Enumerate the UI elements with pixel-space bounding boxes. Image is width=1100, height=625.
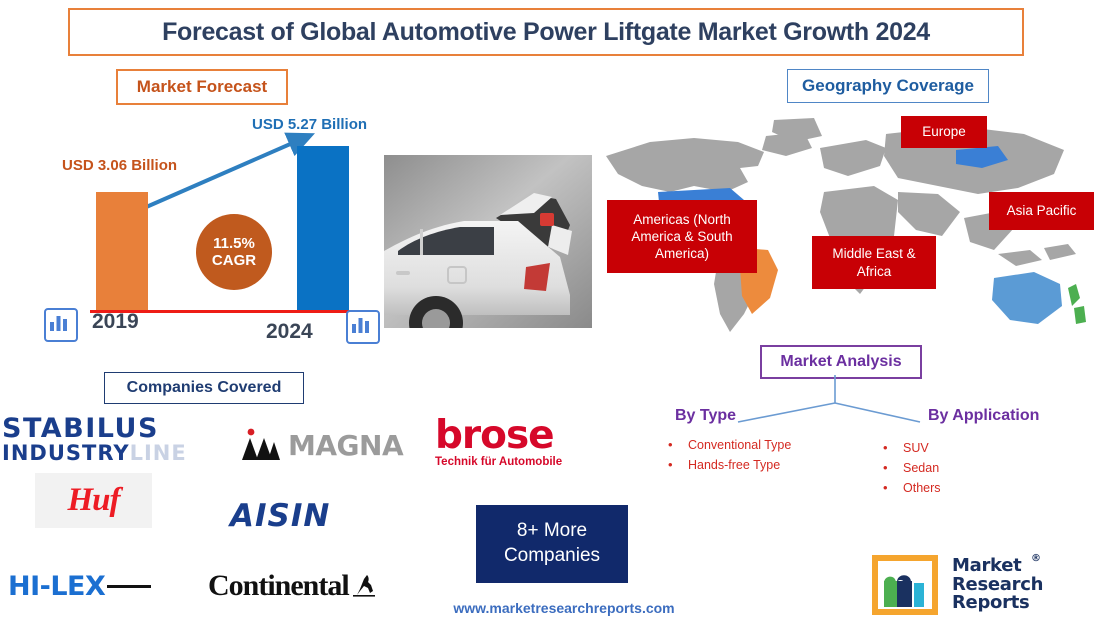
logo-stabilus: STABILUS INDUSTRYLINE bbox=[2, 415, 220, 465]
map-label-americas: Americas (North America & South America) bbox=[607, 200, 757, 273]
page-title-banner: Forecast of Global Automotive Power Lift… bbox=[68, 8, 1024, 56]
list-item: Conventional Type bbox=[660, 438, 791, 452]
section-header-market-forecast: Market Forecast bbox=[116, 69, 288, 105]
world-map: Europe Asia Pacific Americas (North Amer… bbox=[598, 108, 1094, 343]
huf-wordmark: Huf bbox=[67, 482, 119, 519]
bar-chart-icon bbox=[346, 310, 380, 344]
logo-aisin: AISIN bbox=[230, 498, 390, 534]
bar-2024 bbox=[297, 146, 349, 312]
section-header-geography-coverage: Geography Coverage bbox=[787, 69, 989, 103]
mrr-wordmark: Market Research Reports ® bbox=[952, 557, 1043, 612]
map-label-text: Americas (North America & South America) bbox=[615, 211, 749, 263]
bar-2019 bbox=[96, 192, 148, 312]
product-photo-power-liftgate bbox=[384, 155, 592, 328]
branch-heading-by-type: By Type bbox=[675, 407, 736, 425]
geography-coverage-label: Geography Coverage bbox=[802, 76, 974, 96]
chart-category-2024: 2024 bbox=[266, 320, 313, 344]
list-item: Others bbox=[875, 481, 941, 495]
more-companies-badge: 8+ More Companies bbox=[476, 505, 628, 583]
bar-chart-icon bbox=[44, 308, 78, 342]
hilex-rule bbox=[107, 585, 151, 588]
market-forecast-label: Market Forecast bbox=[137, 77, 267, 97]
registered-trademark-icon: ® bbox=[1031, 554, 1041, 564]
market-research-reports-logo: Market Research Reports ® bbox=[872, 552, 1087, 618]
website-url[interactable]: www.marketresearchreports.com bbox=[424, 600, 704, 616]
cagr-percent: 11.5% bbox=[213, 235, 255, 252]
growth-arrow-icon bbox=[140, 130, 315, 215]
stabilus-line-text: LINE bbox=[130, 441, 187, 465]
horse-icon bbox=[351, 573, 377, 599]
more-companies-line1: 8+ More bbox=[517, 519, 587, 544]
map-region-australia bbox=[992, 272, 1062, 324]
map-label-text: Europe bbox=[922, 123, 966, 140]
map-label-asia-pacific: Asia Pacific bbox=[989, 192, 1094, 230]
map-label-text: Asia Pacific bbox=[1007, 202, 1077, 219]
logo-continental: Continental bbox=[208, 568, 423, 604]
by-type-list: Conventional Type Hands-free Type bbox=[660, 438, 791, 478]
continental-wordmark: Continental bbox=[208, 569, 349, 603]
market-analysis-label: Market Analysis bbox=[780, 353, 901, 371]
magna-wordmark: MAGNA bbox=[288, 429, 403, 462]
aisin-wordmark: AISIN bbox=[230, 498, 330, 534]
market-analysis-tree: By Type By Application Conventional Type… bbox=[620, 375, 1080, 510]
section-header-market-analysis: Market Analysis bbox=[760, 345, 922, 379]
more-companies-line2: Companies bbox=[504, 544, 600, 569]
page-title: Forecast of Global Automotive Power Lift… bbox=[162, 18, 930, 47]
list-item: SUV bbox=[875, 441, 941, 455]
companies-covered-label: Companies Covered bbox=[127, 379, 282, 397]
map-label-europe: Europe bbox=[901, 116, 987, 148]
stabilus-industry-text: INDUSTRY bbox=[2, 441, 130, 465]
hilex-wordmark: HI-LEX bbox=[8, 571, 105, 602]
by-application-list: SUV Sedan Others bbox=[875, 441, 941, 501]
map-region-new-zealand bbox=[1068, 284, 1080, 306]
list-item: Sedan bbox=[875, 461, 941, 475]
list-item: Hands-free Type bbox=[660, 458, 791, 472]
tree-connector-lines bbox=[620, 375, 1080, 435]
mrr-line-3: Reports bbox=[952, 594, 1043, 612]
logo-brose: brose Technik für Automobile bbox=[435, 418, 600, 476]
brose-wordmark: brose bbox=[435, 418, 600, 454]
market-forecast-chart: USD 3.06 Billion USD 5.27 Billion 11.5% … bbox=[30, 110, 390, 345]
stabilus-wordmark: STABILUS bbox=[2, 415, 220, 442]
chart-category-2019: 2019 bbox=[92, 310, 139, 334]
magna-mark-icon bbox=[240, 428, 280, 462]
cagr-badge: 11.5% CAGR bbox=[196, 214, 272, 290]
mrr-m-mark-icon bbox=[872, 555, 938, 615]
logo-magna: MAGNA bbox=[240, 425, 420, 465]
map-label-middle-east-africa: Middle East & Africa bbox=[812, 236, 936, 289]
map-label-text: Middle East & Africa bbox=[820, 245, 928, 280]
logo-huf: Huf bbox=[35, 473, 152, 528]
brose-tagline: Technik für Automobile bbox=[435, 456, 600, 468]
section-header-companies-covered: Companies Covered bbox=[104, 372, 304, 404]
branch-heading-by-application: By Application bbox=[928, 407, 1039, 425]
cagr-label: CAGR bbox=[212, 252, 256, 269]
logo-hi-lex: HI-LEX bbox=[8, 568, 178, 604]
